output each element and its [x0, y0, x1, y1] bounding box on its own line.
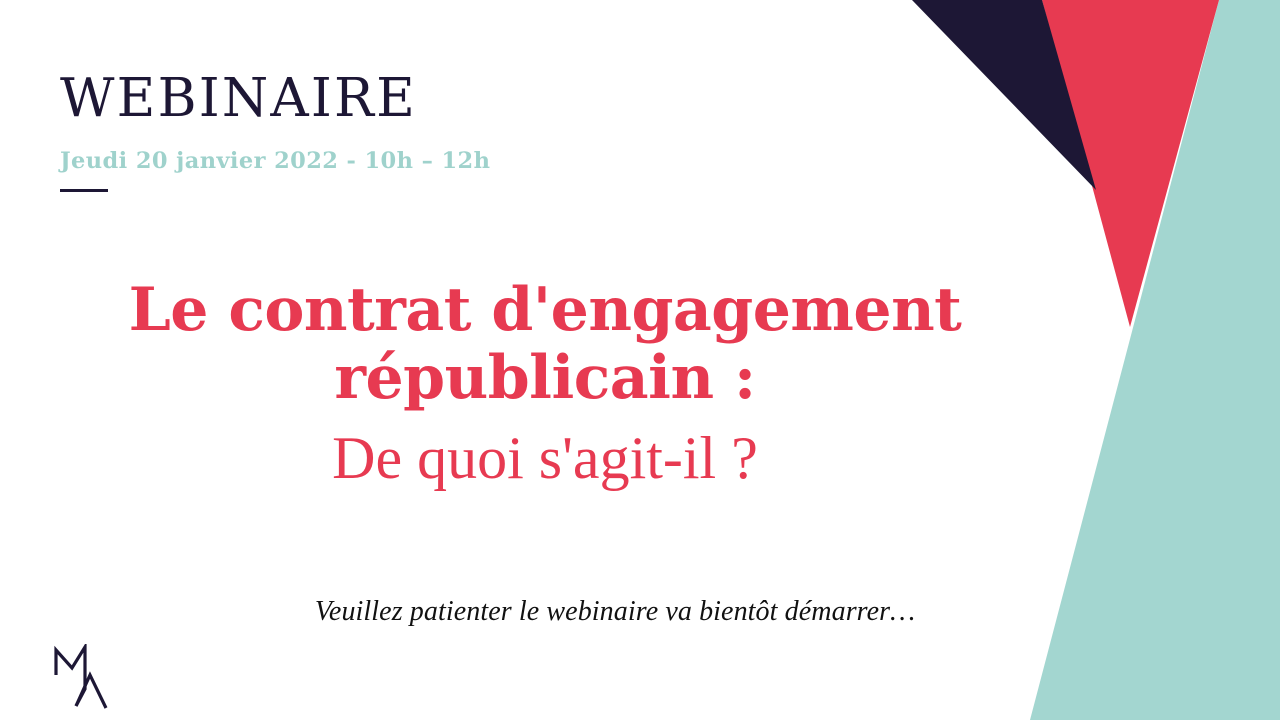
main-title-line-2: républicain : — [0, 344, 1090, 412]
waiting-note: Veuillez patienter le webinaire va bient… — [0, 596, 1230, 628]
slide-canvas: WEBINAIRE Jeudi 20 janvier 2022 - 10h – … — [0, 0, 1280, 720]
page-title: WEBINAIRE — [60, 72, 820, 126]
navy-triangle-shape — [912, 0, 1096, 190]
main-title-line-3: De quoi s'agit-il ? — [0, 413, 1090, 494]
title-underline-rule — [60, 189, 108, 192]
main-title-block: Le contrat d'engagement républicain : De… — [0, 276, 1090, 494]
header-block: WEBINAIRE Jeudi 20 janvier 2022 - 10h – … — [60, 72, 820, 192]
main-title-line-1: Le contrat d'engagement — [0, 276, 1090, 344]
waiting-note-block: Veuillez patienter le webinaire va bient… — [0, 596, 1230, 628]
event-date: Jeudi 20 janvier 2022 - 10h – 12h — [60, 126, 820, 174]
ma-logo-icon — [52, 644, 134, 716]
